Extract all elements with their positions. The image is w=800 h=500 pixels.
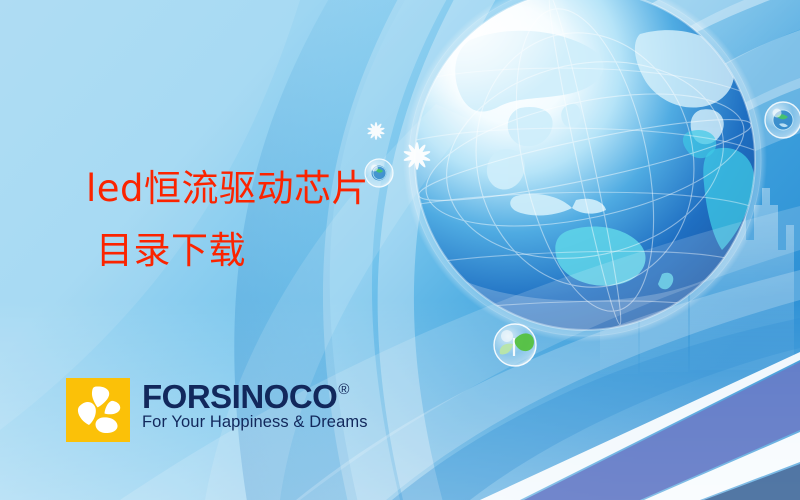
brand-logo-lockup: FORSINOCO ® For Your Happiness & Dreams	[66, 378, 368, 442]
four-petal-flower-icon	[66, 378, 130, 442]
promo-banner: led恒流驱动芯片 目录下载 FORSINOCO ® For Your Happ…	[0, 0, 800, 500]
brand-wordmark-text: FORSINOCO	[142, 381, 337, 412]
headline-line-1: led恒流驱动芯片	[86, 170, 369, 207]
brand-wordmark: FORSINOCO ®	[142, 381, 368, 412]
registered-trademark-icon: ®	[338, 382, 349, 397]
brand-text-block: FORSINOCO ® For Your Happiness & Dreams	[142, 378, 368, 432]
bubble-leaf-icon	[494, 324, 536, 366]
brand-tagline: For Your Happiness & Dreams	[142, 413, 368, 432]
headline-line-2: 目录下载	[96, 232, 246, 269]
bubble-globe-icon-right	[765, 102, 800, 138]
bubble-globe-icon-left	[365, 159, 393, 187]
